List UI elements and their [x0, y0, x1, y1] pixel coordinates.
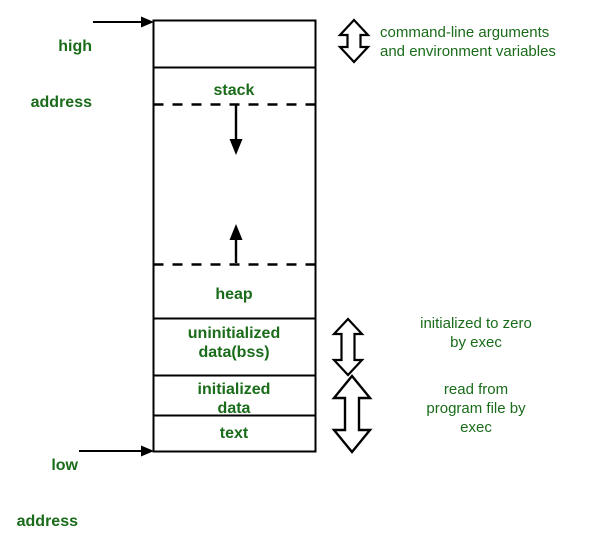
- annotation-program-file-line3: exec: [376, 419, 576, 438]
- segment-label-initialized-data: initialized data: [153, 381, 315, 419]
- segment-label-stack-line1: stack: [153, 82, 315, 101]
- annotation-args-env-line1: command-line arguments: [380, 24, 606, 43]
- bss-range-arrow: [334, 319, 362, 375]
- segment-label-bss-line2: data(bss): [153, 344, 315, 363]
- annotation-program-file-line2: program file by: [376, 400, 576, 419]
- segment-label-bss: uninitialized data(bss): [153, 325, 315, 363]
- segment-label-initialized-data-line1: initialized: [153, 381, 315, 400]
- annotation-args-env: command-line arguments and environment v…: [380, 24, 606, 62]
- segment-label-bss-line1: uninitialized: [153, 325, 315, 344]
- low-address-pointer: [79, 446, 154, 457]
- annotation-bss-line2: by exec: [376, 334, 576, 353]
- segment-label-stack: stack: [153, 82, 315, 101]
- low-address-line2: address: [0, 513, 78, 532]
- annotation-bss: initialized to zero by exec: [376, 315, 576, 353]
- high-address-line2: address: [0, 94, 92, 113]
- program-file-range-arrow: [334, 376, 370, 452]
- args-env-range-arrow: [340, 20, 368, 62]
- annotation-args-env-line2: and environment variables: [380, 43, 606, 62]
- low-address-label: low address: [0, 419, 78, 551]
- segment-label-heap: heap: [153, 286, 315, 305]
- low-address-line1: low: [0, 457, 78, 476]
- high-address-pointer: [93, 17, 154, 28]
- annotation-program-file: read from program file by exec: [376, 381, 576, 437]
- high-address-label: high address: [0, 0, 92, 132]
- segment-label-text: text: [153, 425, 315, 444]
- segment-label-heap-line1: heap: [153, 286, 315, 305]
- annotation-program-file-line1: read from: [376, 381, 576, 400]
- annotation-bss-line1: initialized to zero: [376, 315, 576, 334]
- segment-label-initialized-data-line2: data: [153, 400, 315, 419]
- high-address-line1: high: [0, 38, 92, 57]
- segment-label-text-line1: text: [153, 425, 315, 444]
